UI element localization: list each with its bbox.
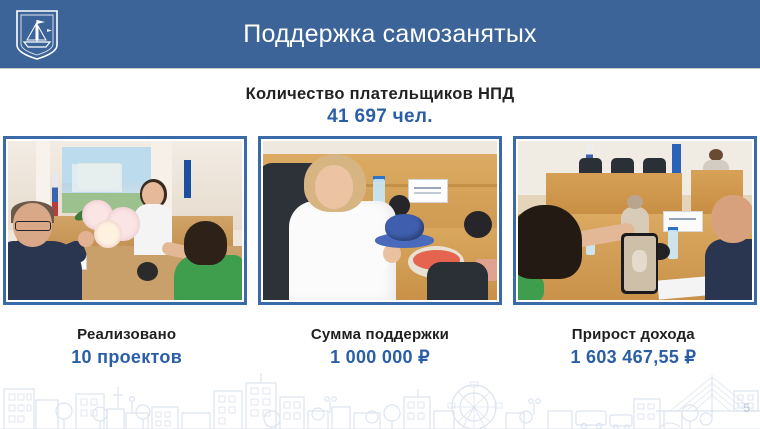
saratov-coat-of-arms-sailboat-icon bbox=[14, 9, 60, 61]
metric-income-growth: Прирост дохода 1 603 467,55 ₽ bbox=[507, 324, 760, 369]
page-number: 5 bbox=[743, 401, 750, 415]
metric-label: Реализовано bbox=[0, 324, 253, 345]
summary-label: Количество плательщиков НПД bbox=[0, 84, 760, 104]
photo-phone-doll bbox=[513, 136, 757, 305]
metric-label: Сумма поддержки bbox=[253, 324, 506, 345]
metric-support-amount: Сумма поддержки 1 000 000 ₽ bbox=[253, 324, 506, 369]
city-skyline-outline-icon bbox=[0, 367, 760, 429]
metric-value: 1 603 467,55 ₽ bbox=[507, 346, 760, 369]
photo-ceramic-cup bbox=[258, 136, 502, 305]
summary-block: Количество плательщиков НПД 41 697 чел. bbox=[0, 84, 760, 128]
metric-label: Прирост дохода bbox=[507, 324, 760, 345]
photo-flowers-presentation bbox=[3, 136, 247, 305]
page-title: Поддержка самозанятых bbox=[90, 0, 690, 68]
metrics-row: Реализовано 10 проектов Сумма поддержки … bbox=[0, 324, 760, 369]
summary-value: 41 697 чел. bbox=[0, 105, 760, 128]
header-bar: Поддержка самозанятых bbox=[0, 0, 760, 68]
metric-projects: Реализовано 10 проектов bbox=[0, 324, 253, 369]
metric-value: 10 проектов bbox=[0, 346, 253, 369]
photo-row bbox=[3, 136, 757, 305]
slide-root: Поддержка самозанятых Количество платель… bbox=[0, 0, 760, 429]
metric-value: 1 000 000 ₽ bbox=[253, 346, 506, 369]
